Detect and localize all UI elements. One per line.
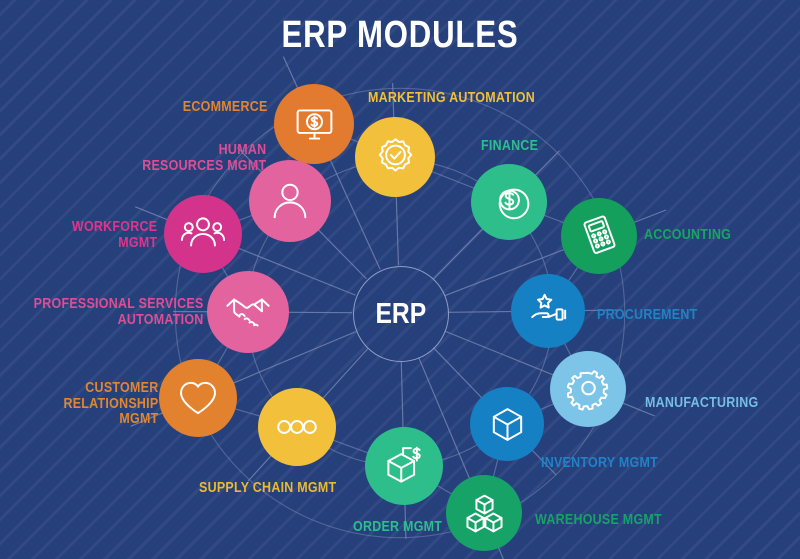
erp-modules-infographic: ERP MODULES ERP ECOMMERCE MARKETING AUTO… — [0, 0, 800, 559]
badge-check-icon — [373, 135, 418, 180]
calculator-icon — [578, 215, 621, 258]
label-supply-chain-mgmt: SUPPLY CHAIN MGMT — [199, 481, 336, 497]
node-inventory-mgmt[interactable] — [470, 387, 544, 461]
node-professional-services-automation[interactable] — [207, 271, 289, 353]
page-title: ERP MODULES — [72, 14, 728, 57]
node-order-mgmt[interactable] — [365, 427, 443, 505]
monitor-dollar-icon — [292, 102, 337, 147]
node-supply-chain-mgmt[interactable] — [258, 388, 336, 466]
people-group-icon — [181, 212, 225, 256]
erp-center-label: ERP — [376, 298, 427, 331]
cube-icon — [487, 404, 528, 445]
label-accounting: ACCOUNTING — [644, 228, 731, 244]
label-warehouse-mgmt: WAREHOUSE MGMT — [535, 513, 662, 529]
chain-link-icon — [275, 405, 319, 449]
erp-center-hub: ERP — [353, 266, 449, 362]
label-procurement: PROCUREMENT — [597, 308, 698, 324]
dollar-circle-icon — [488, 181, 531, 224]
label-manufacturing: MANUFACTURING — [645, 396, 759, 412]
label-marketing-automation: MARKETING AUTOMATION — [368, 91, 535, 107]
node-manufacturing[interactable] — [550, 351, 626, 427]
cubes-stack-icon — [463, 492, 506, 535]
node-warehouse-mgmt[interactable] — [446, 475, 522, 551]
node-procurement[interactable] — [511, 274, 585, 348]
handshake-icon — [225, 289, 271, 335]
node-accounting[interactable] — [561, 198, 637, 274]
label-inventory-mgmt: INVENTORY MGMT — [541, 456, 658, 472]
box-dollar-icon — [382, 444, 426, 488]
heart-icon — [176, 376, 220, 420]
hand-star-icon — [528, 291, 569, 332]
label-ecommerce: ECOMMERCE — [183, 100, 268, 116]
label-finance: FINANCE — [481, 139, 538, 155]
node-ecommerce[interactable] — [274, 84, 354, 164]
label-order-mgmt: ORDER MGMT — [353, 520, 442, 536]
gear-icon — [567, 368, 610, 411]
node-customer-relationship-mgmt[interactable] — [159, 359, 237, 437]
node-finance[interactable] — [471, 164, 547, 240]
label-professional-services-automation: PROFESSIONAL SERVICES AUTOMATION — [34, 297, 204, 328]
label-workforce-mgmt: WORKFORCE MGMT — [72, 220, 157, 251]
person-icon — [267, 178, 313, 224]
label-human-resources-mgmt: HUMAN RESOURCES MGMT — [142, 143, 266, 174]
node-workforce-mgmt[interactable] — [164, 195, 242, 273]
node-marketing-automation[interactable] — [355, 117, 435, 197]
label-customer-relationship-mgmt: CUSTOMER RELATIONSHIP MGMT — [63, 381, 158, 428]
